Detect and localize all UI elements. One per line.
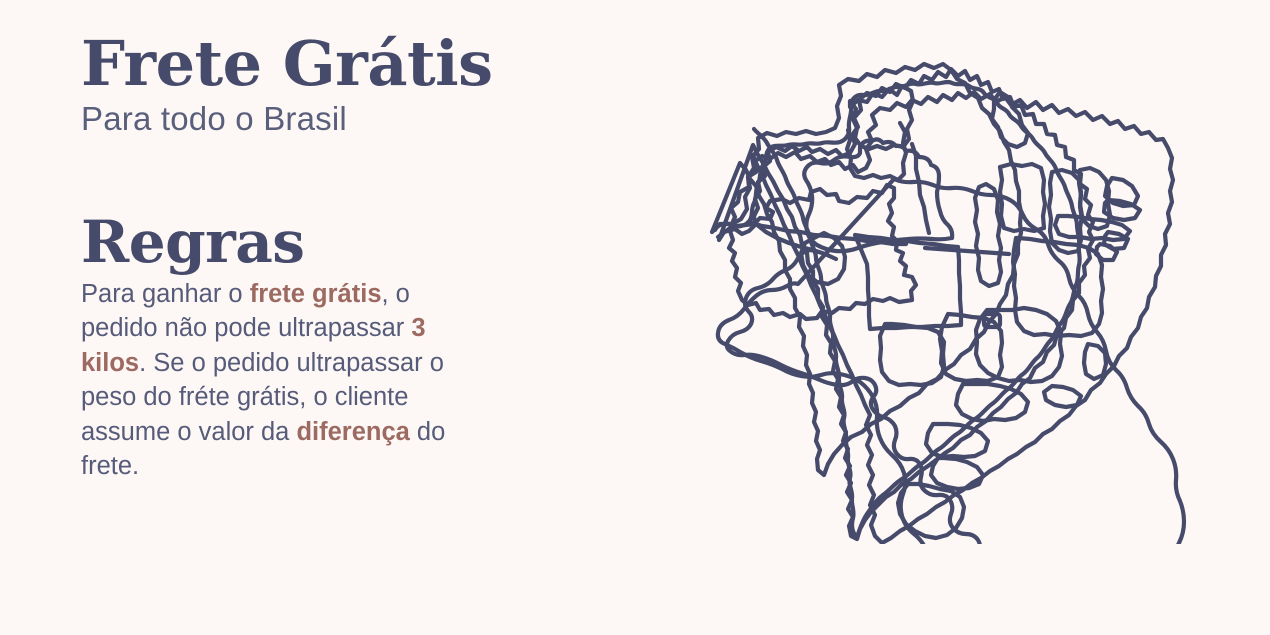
brazil-map-icon — [700, 52, 1190, 544]
brazil-map — [700, 52, 1190, 544]
rules-heading: Regras — [81, 214, 551, 271]
rules-accent-text: frete grátis — [250, 280, 382, 308]
rules-body-text: Para ganhar o frete grátis, o pedido não… — [81, 277, 461, 484]
rules-accent-text: diferença — [296, 418, 409, 446]
free-shipping-banner: Frete Grátis Para todo o Brasil Regras P… — [0, 0, 1270, 635]
brazil-state-borders — [719, 69, 1093, 539]
rules-block: Regras Para ganhar o frete grátis, o ped… — [81, 214, 551, 484]
hero-text-block: Frete Grátis Para todo o Brasil — [81, 34, 551, 137]
rules-accent-text: 3 kilos — [81, 314, 426, 377]
page-title: Frete Grátis — [81, 34, 551, 94]
page-subtitle: Para todo o Brasil — [81, 101, 551, 138]
